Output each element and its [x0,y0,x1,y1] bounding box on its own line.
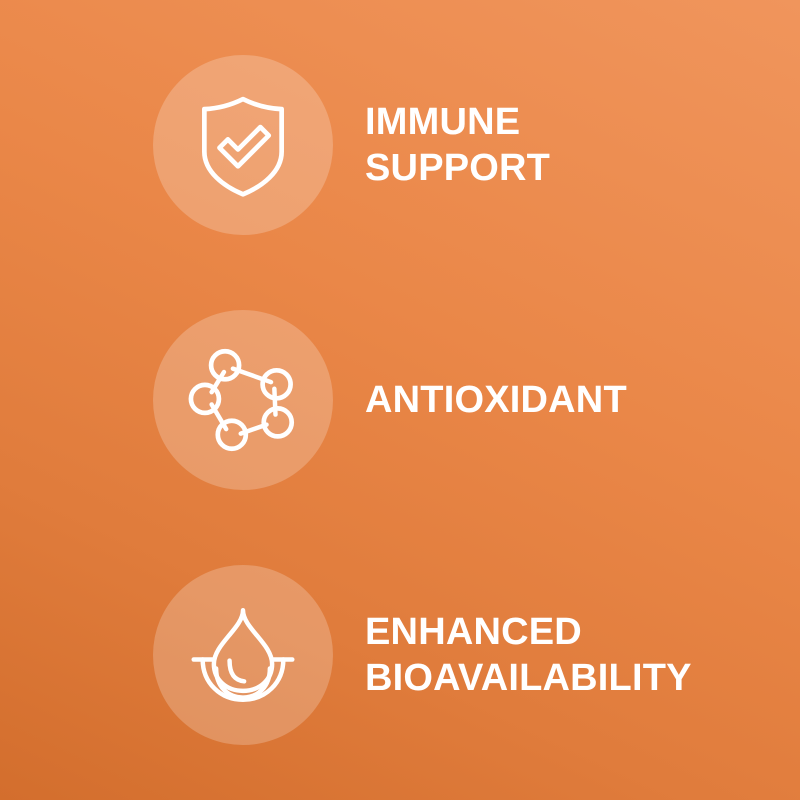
icon-badge-enhanced-bioavailability [153,565,333,745]
benefit-item-immune-support: IMMUNE SUPPORT [153,55,800,235]
benefit-item-antioxidant: ANTIOXIDANT [153,310,800,490]
droplet-ripple-icon [187,599,299,711]
molecule-icon [187,344,299,456]
shield-check-icon [187,89,299,201]
icon-badge-immune-support [153,55,333,235]
benefit-label-immune-support: IMMUNE SUPPORT [365,99,550,192]
benefit-label-enhanced-bioavailability: ENHANCED BIOAVAILABILITY [365,609,692,702]
benefit-item-enhanced-bioavailability: ENHANCED BIOAVAILABILITY [153,565,800,745]
benefit-label-antioxidant: ANTIOXIDANT [365,377,627,423]
icon-badge-antioxidant [153,310,333,490]
benefits-panel: IMMUNE SUPPORT [0,0,800,800]
